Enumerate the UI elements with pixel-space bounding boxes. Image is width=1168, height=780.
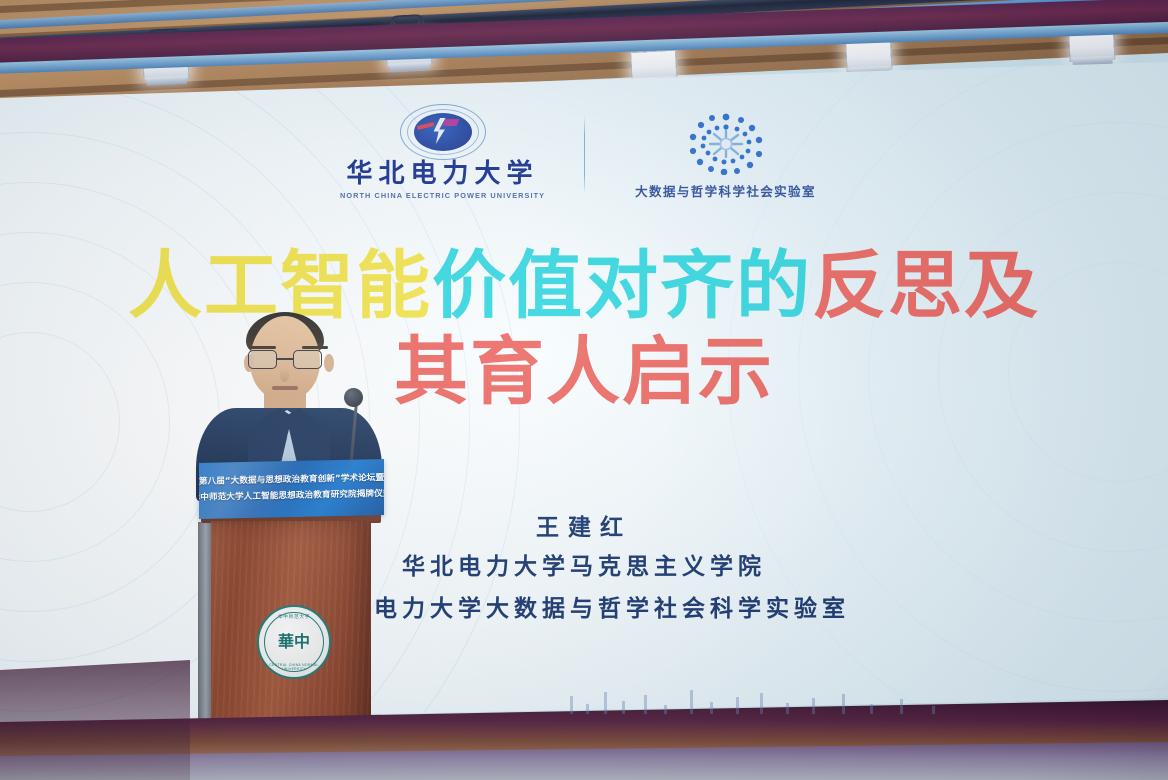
lab-name-cn: 大数据与哲学科学社会实验室 [635, 181, 816, 200]
banner-line-2: 华中师范大学人工智能思想政治教育研究院揭牌仪式 [199, 487, 384, 507]
title-segment-reflection: 反思及 [812, 243, 1040, 329]
title-line-2: 其育人启示 [0, 330, 1168, 416]
slide-title: 人工智能价值对齐的反思及 其育人启示 [0, 244, 1168, 416]
conference-stage-photo: 华北电力大学 NORTH CHINA ELECTRIC POWER UNIVER… [0, 0, 1168, 780]
presenter-name: 王建红 [0, 512, 1168, 543]
gooseneck-microphone-icon [344, 388, 363, 407]
university-name-cn: 华北电力大学 [346, 161, 538, 188]
title-segment-value-alignment: 价值对齐的 [432, 243, 812, 329]
slide-presenter-block: 王建红 华北电力大学马克思主义学院 华北电力大学大数据与哲学社会科学实验室 [0, 512, 1168, 626]
logo-divider [584, 116, 585, 194]
ccnu-seal-icon: 华中师范大学 華中 CENTRAL CHINA NORMAL UNIVERSIT… [257, 605, 331, 679]
speaker-ear-right [324, 354, 334, 372]
speaker-mouth [272, 386, 298, 390]
speaker-nose [280, 368, 289, 382]
presenter-affiliation-1: 华北电力大学马克思主义学院 [0, 549, 1168, 585]
presenter-affiliation-2: 华北电力大学大数据与哲学社会科学实验室 [0, 591, 1168, 627]
seal-arc-bottom: CENTRAL CHINA NORMAL UNIVERSITY [259, 663, 329, 671]
speaker-eyebrow-left [250, 346, 276, 349]
lab-logo-block: 大数据与哲学科学社会实验室 [601, 113, 851, 200]
university-name-en: NORTH CHINA ELECTRIC POWER UNIVERSITY [340, 191, 545, 200]
projection-screen: 华北电力大学 NORTH CHINA ELECTRIC POWER UNIVER… [0, 62, 1168, 722]
stage-left-shadow [0, 660, 190, 780]
eyeglasses-icon [248, 350, 322, 370]
ncepu-emblem-icon [400, 104, 486, 160]
big-data-burst-icon [686, 113, 766, 175]
podium-banner: 第八届“大数据与思想政治教育创新”学术论坛暨 华中师范大学人工智能思想政治教育研… [199, 459, 384, 519]
seal-arc-top: 华中师范大学 [259, 614, 329, 620]
university-logo-block: 华北电力大学 NORTH CHINA ELECTRIC POWER UNIVER… [318, 104, 568, 200]
speaker-eyebrow-right [302, 346, 328, 349]
slide-logo-lockup: 华北电力大学 NORTH CHINA ELECTRIC POWER UNIVER… [0, 104, 1168, 200]
floor-reflections [560, 688, 980, 714]
